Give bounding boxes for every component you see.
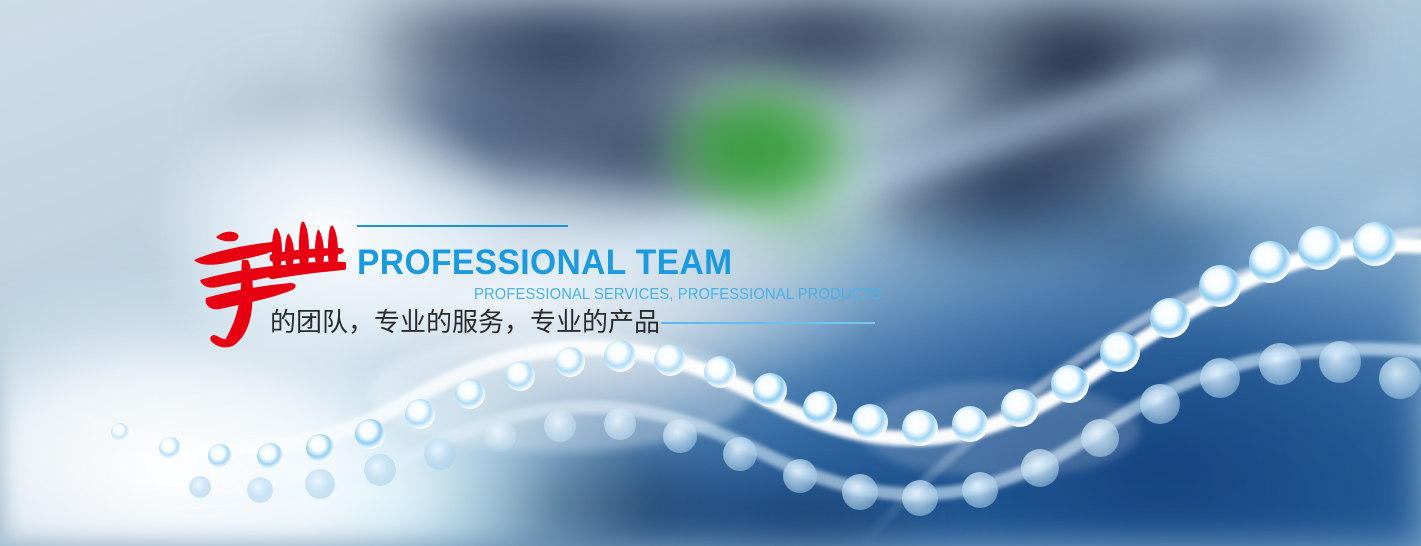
professional-team-banner: PROFESSIONAL TEAM PROFESSIONAL SERVICES,… — [0, 0, 1421, 546]
page-title: PROFESSIONAL TEAM — [357, 243, 733, 283]
rule-above-headline — [357, 225, 568, 227]
chinese-tagline: 的团队，专业的服务，专业的产品 — [270, 306, 660, 340]
rule-right-of-tagline — [661, 322, 875, 324]
page-subtitle: PROFESSIONAL SERVICES, PROFESSIONAL PROD… — [474, 286, 881, 304]
banner-content: PROFESSIONAL TEAM PROFESSIONAL SERVICES,… — [0, 0, 1421, 546]
